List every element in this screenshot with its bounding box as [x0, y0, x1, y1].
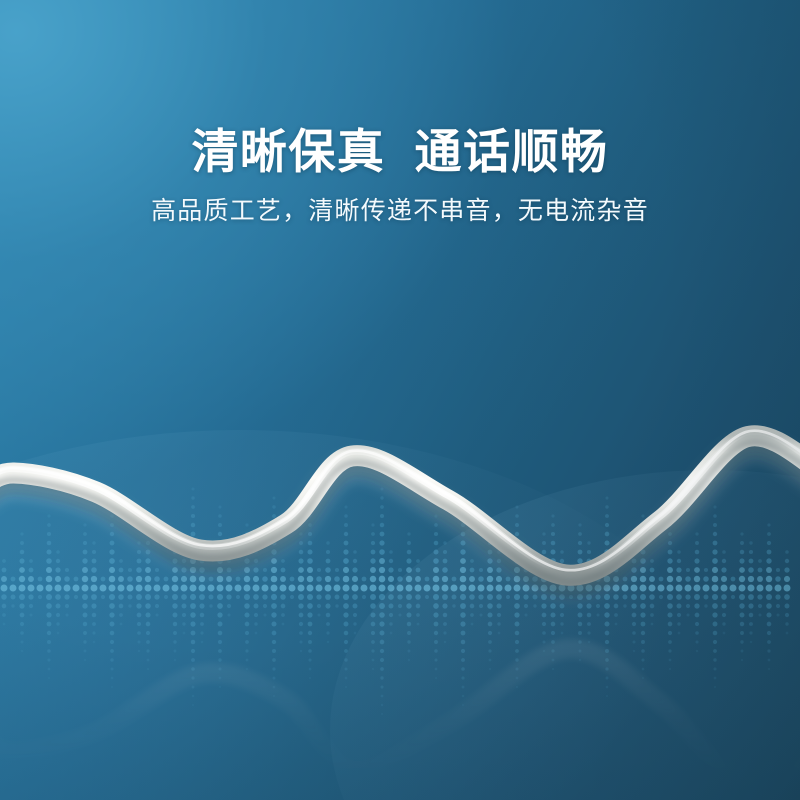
banner-text-block: 清晰保真 通话顺畅 高品质工艺，清晰传递不串音，无电流杂音 — [0, 124, 800, 228]
page-title: 清晰保真 通话顺畅 — [0, 124, 800, 179]
sheen-arc-right — [330, 470, 800, 800]
page-subtitle: 高品质工艺，清晰传递不串音，无电流杂音 — [0, 195, 800, 228]
edge-vignette — [0, 0, 800, 800]
product-banner: 清晰保真 通话顺畅 高品质工艺，清晰传递不串音，无电流杂音 — [0, 0, 800, 800]
audio-cable-graphic — [0, 0, 800, 800]
waveform-dot-pattern — [0, 0, 800, 800]
sheen-arc-left — [0, 430, 740, 800]
